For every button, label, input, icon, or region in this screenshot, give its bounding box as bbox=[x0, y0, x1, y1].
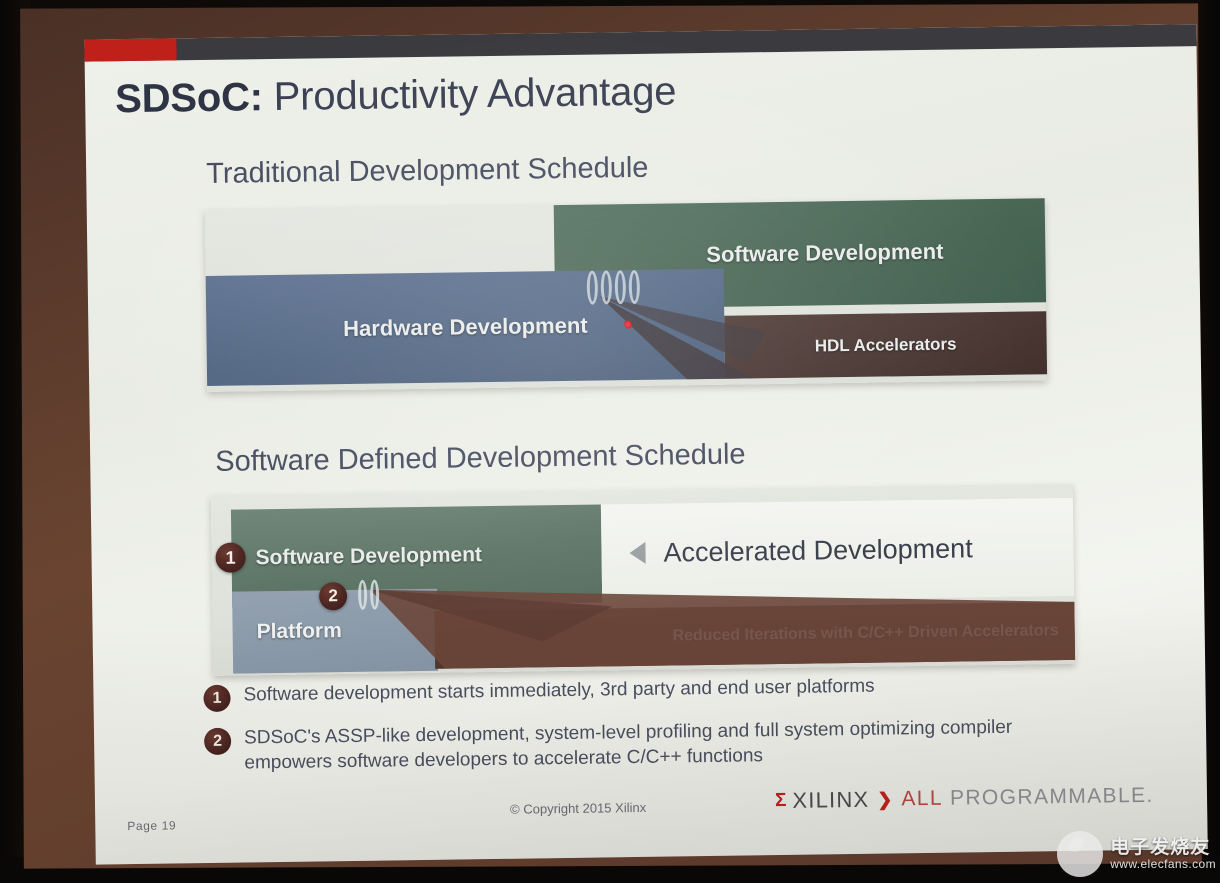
page-title-rest: Productivity Advantage bbox=[263, 69, 677, 119]
iteration-loop-icon bbox=[601, 270, 612, 304]
iteration-loop-icon bbox=[358, 580, 367, 610]
iteration-loop-icon bbox=[629, 270, 640, 304]
projector-scene: SDSoC: Productivity Advantage Traditiona… bbox=[0, 0, 1220, 883]
section-two-heading: Software Defined Development Schedule bbox=[215, 438, 746, 478]
copyright-notice: © Copyright 2015 Xilinx bbox=[510, 800, 646, 817]
iteration-loop-icon bbox=[615, 270, 626, 304]
tagline-programmable: PROGRAMMABLE. bbox=[950, 784, 1154, 811]
page-number: Page 19 bbox=[127, 818, 176, 833]
list-item: 1 Software development starts immediatel… bbox=[203, 670, 1103, 712]
slide-top-accent-bar bbox=[84, 24, 1196, 62]
chevron-right-icon: ❯ bbox=[877, 789, 892, 810]
page-title-bold: SDSoC: bbox=[115, 75, 263, 121]
slide-top-accent-red bbox=[84, 38, 176, 61]
bullet-text-one: Software development starts immediately,… bbox=[243, 674, 874, 708]
xilinx-wordmark: XILINX bbox=[792, 787, 869, 814]
software-defined-schedule-diagram: Software Development Platform Accelerate… bbox=[211, 484, 1075, 676]
watermark-chinese-text: 电子发烧友 bbox=[1110, 837, 1216, 858]
elecfans-logo-icon bbox=[1057, 831, 1103, 877]
section-one-heading: Traditional Development Schedule bbox=[206, 152, 649, 191]
elecfans-watermark-text: 电子发烧友 www.elecfans.com bbox=[1110, 837, 1216, 870]
page-title: SDSoC: Productivity Advantage bbox=[115, 69, 677, 122]
iteration-loop-icon bbox=[370, 580, 379, 610]
iteration-loop-icon bbox=[587, 271, 598, 305]
tagline-all: ALL bbox=[901, 787, 943, 812]
traditional-schedule-diagram: Software Development Hardware Developmen… bbox=[205, 198, 1047, 392]
presentation-slide: SDSoC: Productivity Advantage Traditiona… bbox=[84, 24, 1207, 864]
bullet-badge-two: 2 bbox=[204, 728, 231, 755]
list-item: 2 SDSoC's ASSP-like development, system-… bbox=[204, 713, 1105, 776]
accelerated-pointer-arrow bbox=[211, 484, 1075, 676]
xilinx-logo: Σ XILINX ❯ ALL PROGRAMMABLE. bbox=[775, 783, 1154, 814]
bullet-text-two: SDSoC's ASSP-like development, system-le… bbox=[244, 713, 1105, 775]
watermark-url: www.elecfans.com bbox=[1110, 858, 1216, 871]
iteration-loop-icon-group-traditional bbox=[587, 270, 640, 305]
iteration-loop-icon-group-sdsoc bbox=[358, 580, 379, 610]
bullet-list: 1 Software development starts immediatel… bbox=[203, 670, 1104, 790]
xilinx-sigma-icon: Σ bbox=[775, 790, 786, 812]
bullet-badge-one: 1 bbox=[203, 685, 230, 712]
projection-screen-frame: SDSoC: Productivity Advantage Traditiona… bbox=[20, 3, 1202, 868]
elecfans-watermark: 电子发烧友 www.elecfans.com bbox=[1057, 831, 1216, 877]
